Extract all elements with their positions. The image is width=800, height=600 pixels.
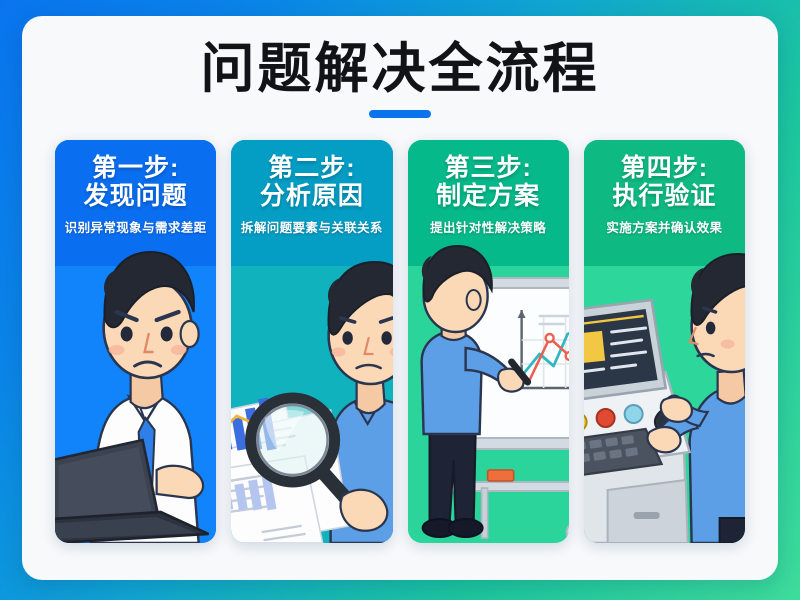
step-headline: 执行验证 xyxy=(590,182,739,211)
step-card-3[interactable]: 第三步: 制定方案 提出针对性解决策略 xyxy=(408,140,569,543)
step-card-4[interactable]: 第四步: 执行验证 实施方案并确认效果 xyxy=(584,140,745,543)
step-card-3-head: 第三步: 制定方案 提出针对性解决策略 xyxy=(408,140,569,262)
step-card-2-head: 第二步: 分析原因 拆解问题要素与关联关系 xyxy=(231,140,392,262)
step-label: 第一步: xyxy=(61,154,210,182)
infographic-panel: 问题解决全流程 xyxy=(22,16,778,580)
page-title: 问题解决全流程 xyxy=(22,42,778,96)
steps-row: 第一步: 发现问题 识别异常现象与需求差距 xyxy=(55,140,745,543)
step-card-1[interactable]: 第一步: 发现问题 识别异常现象与需求差距 xyxy=(55,140,216,543)
title-accent-bar xyxy=(369,110,431,118)
step-subtitle: 识别异常现象与需求差距 xyxy=(61,217,210,236)
step-card-2[interactable]: 第二步: 分析原因 拆解问题要素与关联关系 xyxy=(231,140,392,543)
header: 问题解决全流程 xyxy=(22,16,778,134)
step-label: 第四步: xyxy=(590,154,739,182)
step-subtitle: 拆解问题要素与关联关系 xyxy=(237,217,386,236)
step-subtitle: 提出针对性解决策略 xyxy=(414,217,563,236)
step-headline: 制定方案 xyxy=(414,182,563,211)
step-card-4-head: 第四步: 执行验证 实施方案并确认效果 xyxy=(584,140,745,262)
step-label: 第三步: xyxy=(414,154,563,182)
step-headline: 分析原因 xyxy=(237,182,386,211)
step-card-1-head: 第一步: 发现问题 识别异常现象与需求差距 xyxy=(55,140,216,262)
step-label: 第二步: xyxy=(237,154,386,182)
step-subtitle: 实施方案并确认效果 xyxy=(590,217,739,236)
step-headline: 发现问题 xyxy=(61,182,210,211)
